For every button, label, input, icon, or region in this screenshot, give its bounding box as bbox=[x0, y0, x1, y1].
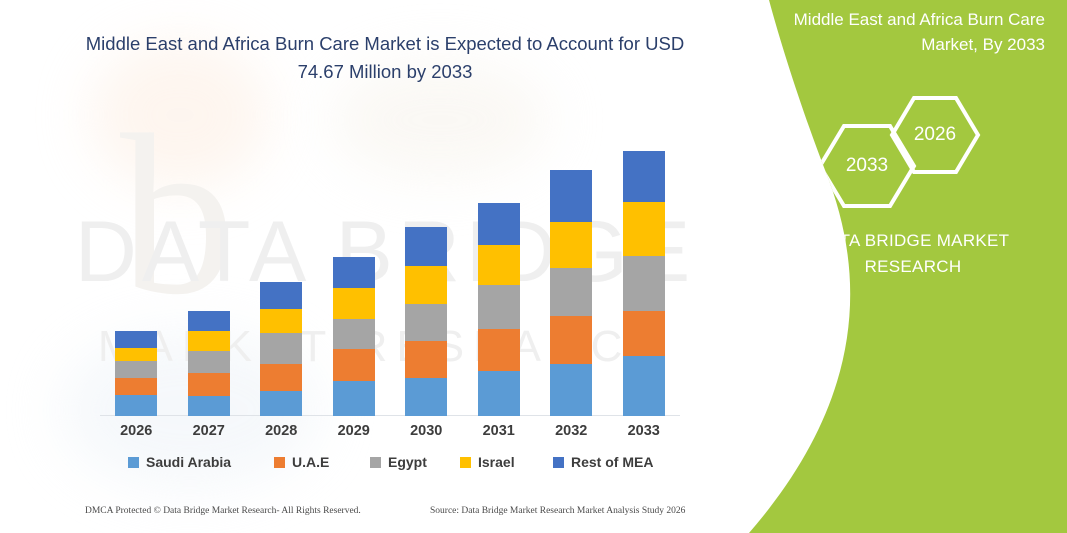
bar-segment-israel-2026[interactable] bbox=[115, 348, 157, 361]
bar-segment-egypt-2029[interactable] bbox=[333, 319, 375, 349]
legend-swatch-icon bbox=[460, 457, 471, 468]
bar-segment-israel-2032[interactable] bbox=[550, 222, 592, 268]
bar-segment-rest-of-mea-2031[interactable] bbox=[478, 203, 520, 245]
hex-2026-label: 2026 bbox=[889, 95, 981, 175]
bar-segment-saudi-arabia-2030[interactable] bbox=[405, 378, 447, 416]
bar-segment-u-a-e-2033[interactable] bbox=[623, 311, 665, 356]
legend-item-rest-of-mea[interactable]: Rest of MEA bbox=[553, 454, 653, 470]
bar-segment-rest-of-mea-2032[interactable] bbox=[550, 170, 592, 221]
bar-2027[interactable] bbox=[188, 311, 230, 416]
bar-segment-egypt-2026[interactable] bbox=[115, 361, 157, 378]
bar-segment-u-a-e-2029[interactable] bbox=[333, 349, 375, 381]
x-tick-2031: 2031 bbox=[469, 423, 529, 439]
bar-segment-rest-of-mea-2033[interactable] bbox=[623, 151, 665, 202]
bar-segment-saudi-arabia-2033[interactable] bbox=[623, 356, 665, 416]
bar-segment-u-a-e-2027[interactable] bbox=[188, 373, 230, 396]
chart-plot-area bbox=[100, 140, 680, 416]
infographic-canvas: b DATA BRIDGE MARKET RESEARCH Middle Eas… bbox=[0, 0, 1067, 533]
bar-segment-israel-2029[interactable] bbox=[333, 288, 375, 319]
chart-legend: Saudi ArabiaU.A.EEgyptIsraelRest of MEA bbox=[100, 454, 680, 476]
bar-segment-egypt-2030[interactable] bbox=[405, 304, 447, 341]
legend-swatch-icon bbox=[553, 457, 564, 468]
bar-segment-u-a-e-2032[interactable] bbox=[550, 316, 592, 364]
footer-source: Source: Data Bridge Market Research Mark… bbox=[430, 506, 685, 516]
legend-label: Saudi Arabia bbox=[146, 454, 231, 470]
x-tick-2026: 2026 bbox=[106, 423, 166, 439]
footer-copyright: DMCA Protected © Data Bridge Market Rese… bbox=[85, 506, 361, 516]
x-axis-labels: 20262027202820292030203120322033 bbox=[100, 423, 680, 445]
bar-segment-rest-of-mea-2027[interactable] bbox=[188, 311, 230, 331]
bar-segment-israel-2027[interactable] bbox=[188, 331, 230, 351]
bar-segment-egypt-2033[interactable] bbox=[623, 256, 665, 310]
brand-name: DATA BRIDGE MARKET RESEARCH bbox=[783, 228, 1043, 279]
legend-swatch-icon bbox=[370, 457, 381, 468]
bar-segment-rest-of-mea-2029[interactable] bbox=[333, 257, 375, 287]
footer: DMCA Protected © Data Bridge Market Rese… bbox=[85, 506, 685, 526]
bar-segment-saudi-arabia-2026[interactable] bbox=[115, 395, 157, 416]
bar-segment-u-a-e-2031[interactable] bbox=[478, 329, 520, 371]
legend-item-saudi-arabia[interactable]: Saudi Arabia bbox=[128, 454, 231, 470]
bar-segment-u-a-e-2030[interactable] bbox=[405, 341, 447, 378]
bar-segment-rest-of-mea-2026[interactable] bbox=[115, 331, 157, 348]
brand-panel: Middle East and Africa Burn Care Market,… bbox=[707, 0, 1067, 533]
bar-segment-saudi-arabia-2031[interactable] bbox=[478, 371, 520, 416]
bar-2033[interactable] bbox=[623, 151, 665, 416]
bar-segment-saudi-arabia-2027[interactable] bbox=[188, 396, 230, 416]
legend-item-egypt[interactable]: Egypt bbox=[370, 454, 427, 470]
bar-segment-israel-2033[interactable] bbox=[623, 202, 665, 256]
legend-swatch-icon bbox=[274, 457, 285, 468]
bar-segment-egypt-2031[interactable] bbox=[478, 285, 520, 328]
bar-segment-saudi-arabia-2032[interactable] bbox=[550, 364, 592, 416]
bar-segment-israel-2030[interactable] bbox=[405, 266, 447, 303]
bar-segment-u-a-e-2026[interactable] bbox=[115, 378, 157, 395]
bar-segment-israel-2031[interactable] bbox=[478, 245, 520, 285]
legend-label: Israel bbox=[478, 454, 515, 470]
x-tick-2027: 2027 bbox=[179, 423, 239, 439]
bar-segment-rest-of-mea-2028[interactable] bbox=[260, 282, 302, 309]
x-tick-2030: 2030 bbox=[396, 423, 456, 439]
legend-item-u-a-e[interactable]: U.A.E bbox=[274, 454, 329, 470]
bar-segment-saudi-arabia-2029[interactable] bbox=[333, 381, 375, 416]
legend-item-israel[interactable]: Israel bbox=[460, 454, 515, 470]
bar-segment-egypt-2032[interactable] bbox=[550, 268, 592, 316]
bar-segment-u-a-e-2028[interactable] bbox=[260, 364, 302, 391]
legend-swatch-icon bbox=[128, 457, 139, 468]
legend-label: Egypt bbox=[388, 454, 427, 470]
x-tick-2028: 2028 bbox=[251, 423, 311, 439]
bar-2030[interactable] bbox=[405, 227, 447, 416]
bar-segment-rest-of-mea-2030[interactable] bbox=[405, 227, 447, 266]
bar-2029[interactable] bbox=[333, 257, 375, 416]
bar-2031[interactable] bbox=[478, 203, 520, 416]
bar-segment-israel-2028[interactable] bbox=[260, 309, 302, 333]
hexagon-group: 2033 2026 bbox=[817, 95, 997, 205]
bar-segment-egypt-2028[interactable] bbox=[260, 333, 302, 364]
page-title: Middle East and Africa Burn Care Market … bbox=[70, 30, 700, 86]
bar-2028[interactable] bbox=[260, 282, 302, 416]
panel-title: Middle East and Africa Burn Care Market,… bbox=[765, 8, 1045, 57]
x-tick-2032: 2032 bbox=[541, 423, 601, 439]
legend-label: Rest of MEA bbox=[571, 454, 653, 470]
bar-segment-egypt-2027[interactable] bbox=[188, 351, 230, 373]
legend-label: U.A.E bbox=[292, 454, 329, 470]
bar-2032[interactable] bbox=[550, 170, 592, 416]
bar-2026[interactable] bbox=[115, 331, 157, 416]
x-tick-2029: 2029 bbox=[324, 423, 384, 439]
hex-2026-icon: 2026 bbox=[889, 95, 981, 175]
bar-segment-saudi-arabia-2028[interactable] bbox=[260, 391, 302, 416]
x-tick-2033: 2033 bbox=[614, 423, 674, 439]
